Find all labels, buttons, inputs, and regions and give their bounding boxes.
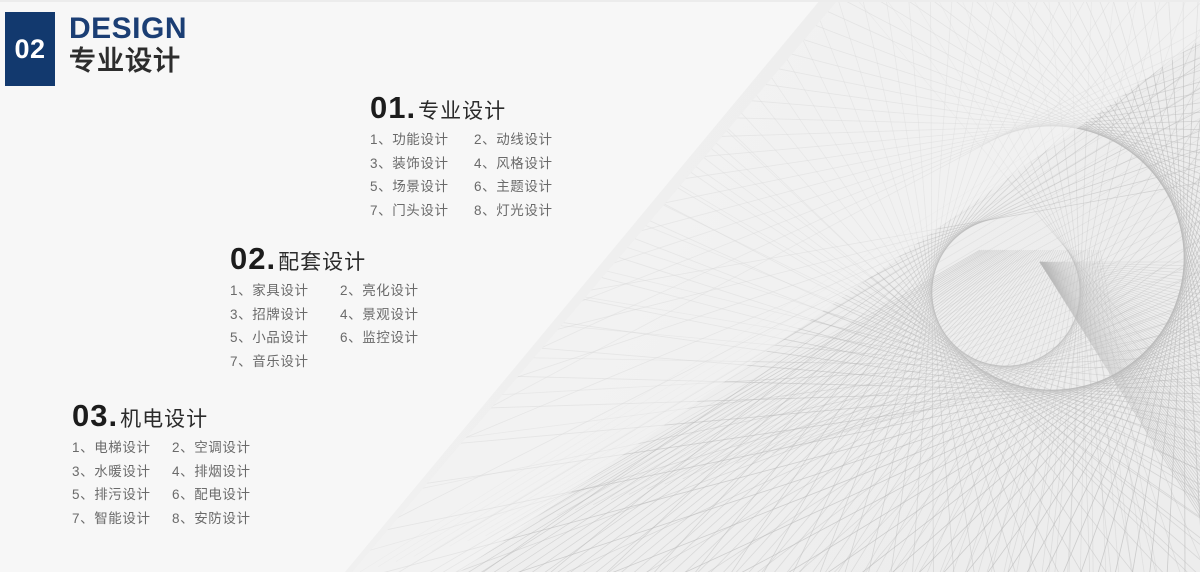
section-02-title: 02. 配套设计 [230,243,419,274]
list-item-text: 4、景观设计 [340,308,419,322]
list-item: 1、家具设计 2、亮化设计 [230,284,419,298]
content-section-02: 02. 配套设计 1、家具设计 2、亮化设计 3、招牌设计 4、景观设计 5、小… [230,243,419,378]
list-item-text: 1、功能设计 [370,133,474,147]
list-item: 7、门头设计 8、灯光设计 [370,204,553,218]
section-02-name: 配套设计 [278,252,366,273]
list-item-text: 7、音乐设计 [230,355,340,369]
list-item-text: 8、安防设计 [172,512,251,526]
list-item: 5、场景设计 6、主题设计 [370,180,553,194]
section-01-item-list: 1、功能设计 2、动线设计 3、装饰设计 4、风格设计 5、场景设计 6、主题设… [370,133,553,217]
list-item-text: 6、主题设计 [474,180,553,194]
top-hairline-divider [0,0,1200,2]
list-item: 1、功能设计 2、动线设计 [370,133,553,147]
list-item-text: 4、排烟设计 [172,465,251,479]
section-03-title: 03. 机电设计 [72,400,251,431]
section-01-number: 01. [370,92,416,123]
list-item: 5、小品设计 6、监控设计 [230,331,419,345]
list-item: 7、音乐设计 [230,355,419,369]
list-item-text: 3、招牌设计 [230,308,340,322]
list-item-text: 5、小品设计 [230,331,340,345]
list-item-text: 5、场景设计 [370,180,474,194]
list-item-text: 5、排污设计 [72,488,172,502]
list-item: 1、电梯设计 2、空调设计 [72,441,251,455]
list-item: 3、水暖设计 4、排烟设计 [72,465,251,479]
section-03-number: 03. [72,400,118,431]
list-item-text: 2、空调设计 [172,441,251,455]
list-item: 3、装饰设计 4、风格设计 [370,157,553,171]
header-title-cn: 专业设计 [69,46,187,76]
section-01-title: 01. 专业设计 [370,92,553,123]
list-item: 3、招牌设计 4、景观设计 [230,308,419,322]
list-item-text: 3、水暖设计 [72,465,172,479]
section-02-item-list: 1、家具设计 2、亮化设计 3、招牌设计 4、景观设计 5、小品设计 6、监控设… [230,284,419,368]
section-03-name: 机电设计 [120,409,208,430]
content-section-01: 01. 专业设计 1、功能设计 2、动线设计 3、装饰设计 4、风格设计 5、场… [370,92,553,227]
list-item: 7、智能设计 8、安防设计 [72,512,251,526]
header-text-group: DESIGN 专业设计 [69,13,187,76]
list-item-text: 1、电梯设计 [72,441,172,455]
section-03-item-list: 1、电梯设计 2、空调设计 3、水暖设计 4、排烟设计 5、排污设计 6、配电设… [72,441,251,525]
list-item: 5、排污设计 6、配电设计 [72,488,251,502]
section-number-badge: 02 [5,12,55,86]
list-item-text: 6、监控设计 [340,331,419,345]
content-section-03: 03. 机电设计 1、电梯设计 2、空调设计 3、水暖设计 4、排烟设计 5、排… [72,400,251,535]
list-item-text: 7、智能设计 [72,512,172,526]
list-item-text: 2、亮化设计 [340,284,419,298]
list-item-text: 6、配电设计 [172,488,251,502]
list-item-text: 7、门头设计 [370,204,474,218]
slide-header: 02 DESIGN 专业设计 [5,12,187,86]
list-item-text: 1、家具设计 [230,284,340,298]
section-01-name: 专业设计 [418,101,506,122]
list-item-text: 2、动线设计 [474,133,553,147]
list-item-text: 4、风格设计 [474,157,553,171]
slide-canvas: 02 DESIGN 专业设计 01. 专业设计 1、功能设计 2、动线设计 3、… [0,0,1200,572]
list-item-text: 8、灯光设计 [474,204,553,218]
section-02-number: 02. [230,243,276,274]
header-title-en: DESIGN [69,13,187,45]
list-item-text: 3、装饰设计 [370,157,474,171]
